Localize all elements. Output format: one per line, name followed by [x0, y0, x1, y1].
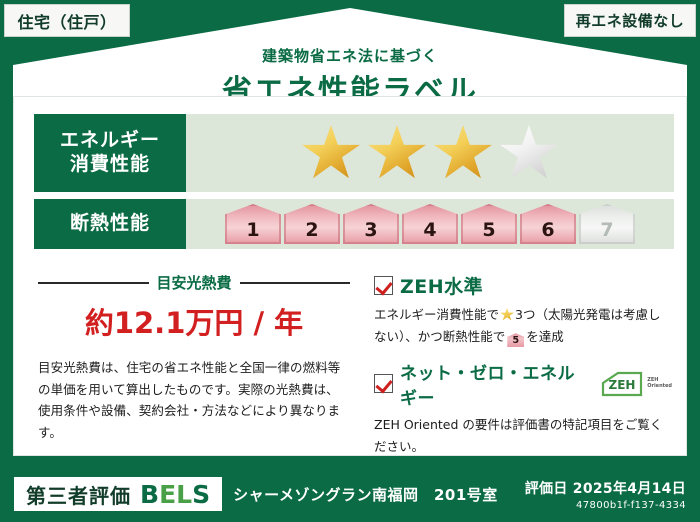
star-icon [434, 125, 492, 181]
utility-cost-heading-text: 目安光熱費 [157, 272, 232, 293]
house-icon: 6 [520, 204, 576, 244]
renewable-energy-tag: 再エネ設備なし [564, 4, 696, 37]
zeh-house-icon: ZEH [600, 371, 644, 397]
bels-japanese-label: 第三者評価 [26, 480, 131, 509]
bels-letter-b: B [140, 480, 159, 509]
label-footer: 第三者評価 BELS シャーメゾングラン南福岡 201号室 評価日 2025年4… [0, 466, 700, 522]
house-icon: 5 [507, 333, 524, 347]
house-icon: 7 [579, 204, 635, 244]
star-rating [302, 125, 558, 181]
energy-label-line2: 消費性能 [70, 153, 150, 177]
property-name: シャーメゾングラン南福岡 201号室 [233, 484, 498, 505]
svg-text:ZEH: ZEH [609, 378, 636, 392]
rule-right [240, 282, 351, 284]
net-zero-energy-detail: ZEH Oriented の要件は評価書の特記項目をご覧ください。 [374, 414, 672, 459]
bels-letters-el: EL [159, 480, 192, 509]
zeh-logo: ZEH ZEH Oriented [600, 371, 672, 397]
utility-cost-heading: 目安光熱費 [38, 272, 350, 293]
label-content: 目安光熱費 約12.1万円 / 年 目安光熱費は、住宅の省エネ性能と全国一律の燃… [14, 262, 688, 457]
house-icon: 1 [225, 204, 281, 244]
insulation-performance-row: 断熱性能 1 2 3 4 5 6 7 [34, 199, 674, 249]
zeh-detail-part3: を達成 [526, 329, 564, 344]
rule-left [38, 282, 149, 284]
label-body-panel: エネルギー 消費性能 断熱性能 1 2 3 [13, 96, 687, 456]
label-subtitle: 建築物省エネ法に基づく [0, 45, 700, 66]
star-icon [500, 125, 558, 181]
house-icon: 2 [284, 204, 340, 244]
energy-label-line1: エネルギー [60, 129, 160, 153]
zeh-star-count: 3つ [515, 307, 535, 322]
zeh-column: ZEH水準 エネルギー消費性能で3つ（太陽光発電は考慮しない）、かつ断熱性能で5… [368, 262, 688, 457]
house-level-scale: 1 2 3 4 5 6 7 [225, 204, 635, 244]
net-zero-energy-item: ネット・ゼロ・エネルギー ZEH ZEH Oriented [374, 359, 672, 409]
energy-performance-row: エネルギー 消費性能 [34, 114, 674, 192]
zeh-logo-sub-line2: Oriented [647, 383, 672, 389]
checkbox-checked-icon [374, 276, 393, 295]
star-icon [368, 125, 426, 181]
energy-performance-label: 住宅（住戸） 再エネ設備なし 建築物省エネ法に基づく 省エネ性能ラベル エネルギ… [0, 0, 700, 522]
building-type-tag: 住宅（住戸） [4, 4, 130, 37]
zeh-oriented-caption: ZEH Oriented [647, 378, 672, 390]
star-icon [302, 125, 360, 181]
insulation-rating-area: 1 2 3 4 5 6 7 [186, 199, 674, 249]
utility-cost-value: 約12.1万円 / 年 [38, 300, 350, 342]
utility-cost-note: 目安光熱費は、住宅の省エネ性能と全国一律の燃料等の単価を用いて算出したものです。… [38, 357, 350, 443]
house-icon: 4 [402, 204, 458, 244]
bels-letter-s: S [192, 480, 210, 509]
insulation-label-line1: 断熱性能 [70, 212, 150, 236]
zeh-detail-part1: エネルギー消費性能で [374, 307, 499, 322]
zeh-standard-item: ZEH水準 [374, 272, 672, 299]
bels-logo: 第三者評価 BELS [14, 477, 222, 511]
evaluation-info: 評価日 2025年4月14日 47800b1f-f137-4334 [525, 478, 686, 511]
house-icon: 5 [461, 204, 517, 244]
certificate-number: 47800b1f-f137-4334 [525, 500, 686, 511]
net-zero-energy-title: ネット・ゼロ・エネルギー [400, 359, 590, 409]
zeh-standard-detail: エネルギー消費性能で3つ（太陽光発電は考慮しない）、かつ断熱性能で5を達成 [374, 304, 672, 349]
zeh-standard-title: ZEH水準 [400, 272, 483, 299]
star-icon [500, 308, 514, 321]
energy-rating-area [186, 114, 674, 192]
utility-cost-column: 目安光熱費 約12.1万円 / 年 目安光熱費は、住宅の省エネ性能と全国一律の燃… [14, 262, 368, 457]
checkbox-checked-icon [374, 374, 393, 393]
energy-performance-label-box: エネルギー 消費性能 [34, 114, 186, 192]
house-icon: 3 [343, 204, 399, 244]
bels-wordmark: BELS [140, 480, 210, 509]
insulation-performance-label-box: 断熱性能 [34, 199, 186, 249]
evaluation-date: 評価日 2025年4月14日 [525, 478, 686, 498]
